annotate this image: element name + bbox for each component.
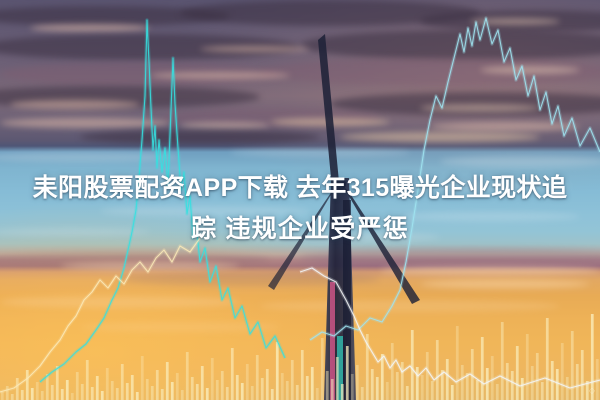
volume-bar	[91, 387, 94, 400]
volume-bar	[391, 343, 394, 400]
volume-bar	[71, 393, 74, 400]
volume-bar	[526, 334, 529, 400]
volume-bar	[541, 382, 544, 400]
title-line-2: 踪 违规企业受严惩	[0, 209, 600, 250]
volume-bar	[61, 389, 64, 400]
volume-bar	[571, 331, 574, 400]
volume-bar	[501, 322, 504, 400]
volume-bar	[26, 370, 29, 400]
volume-bar	[301, 350, 304, 400]
volume-bar	[196, 384, 199, 400]
volume-bar	[11, 394, 14, 400]
volume-bar	[251, 386, 254, 400]
volume-bar	[181, 390, 184, 400]
volume-bar	[281, 373, 284, 400]
volume-bar	[326, 371, 329, 400]
volume-bar	[141, 356, 144, 400]
volume-bar	[456, 326, 459, 400]
chart-line-glow	[0, 238, 200, 392]
volume-bar	[156, 370, 159, 400]
volume-bar	[266, 369, 269, 400]
volume-bar	[101, 391, 104, 400]
volume-bar	[221, 371, 224, 400]
volume-bar	[361, 387, 364, 400]
volume-bar	[536, 353, 539, 400]
banner-image: 耒阳股票配资APP下载 去年315曝光企业现状追 踪 违规企业受严惩 ◇	[0, 0, 600, 400]
volume-histogram	[1, 314, 599, 400]
volume-bar	[126, 383, 129, 400]
volume-bar	[236, 375, 239, 400]
volume-bar	[421, 375, 424, 400]
title-line-1: 耒阳股票配资APP下载 去年315曝光企业现状追	[0, 168, 600, 209]
volume-bar	[431, 381, 434, 400]
volume-bar	[131, 375, 134, 400]
volume-bar	[31, 388, 34, 400]
volume-bar	[581, 350, 584, 400]
volume-bar	[396, 372, 399, 400]
volume-bar	[256, 355, 259, 400]
volume-bar	[166, 362, 169, 400]
volume-bar	[321, 338, 324, 400]
volume-bar	[201, 366, 204, 400]
volume-bar	[311, 367, 314, 400]
volume-bar	[116, 388, 119, 400]
volume-bar	[481, 337, 484, 400]
volume-bar	[136, 392, 139, 400]
volume-bar	[336, 357, 339, 400]
volume-bar	[226, 387, 229, 400]
volume-bar	[206, 388, 209, 400]
volume-bar	[151, 386, 154, 400]
volume-bar	[331, 379, 334, 400]
volume-bar	[451, 385, 454, 400]
volume-bar	[286, 381, 289, 400]
volume-bar	[346, 346, 349, 400]
volume-bar	[296, 385, 299, 400]
volume-bar	[386, 382, 389, 400]
banner-title: 耒阳股票配资APP下载 去年315曝光企业现状追 踪 违规企业受严惩	[0, 168, 600, 250]
volume-bar	[146, 379, 149, 400]
volume-bar	[376, 377, 379, 400]
volume-bar	[171, 382, 174, 400]
volume-bar	[231, 348, 234, 400]
volume-bar	[86, 360, 89, 400]
volume-bar	[261, 378, 264, 400]
volume-bar	[96, 376, 99, 400]
volume-bar	[496, 384, 499, 400]
volume-bar	[51, 385, 54, 400]
volume-bar	[186, 352, 189, 400]
volume-bar	[561, 343, 564, 400]
volume-bar	[446, 359, 449, 400]
volume-bar	[176, 373, 179, 400]
volume-bar	[211, 358, 214, 400]
volume-bar	[16, 378, 19, 400]
volume-bar	[36, 382, 39, 400]
volume-bar	[161, 389, 164, 400]
volume-bar	[576, 364, 579, 400]
volume-bar	[546, 318, 549, 400]
volume-bar	[436, 340, 439, 400]
volume-bar	[66, 380, 69, 400]
volume-bar	[191, 377, 194, 400]
volume-bar	[81, 384, 84, 400]
volume-bar	[341, 384, 344, 400]
volume-bar	[121, 364, 124, 400]
volume-bar	[21, 390, 24, 400]
volume-bar	[316, 388, 319, 400]
volume-bar	[351, 374, 354, 400]
volume-bar	[76, 372, 79, 400]
volume-bar	[426, 352, 429, 400]
volume-bar	[276, 342, 279, 400]
volume-bar	[246, 364, 249, 400]
volume-bar	[291, 360, 294, 400]
watermark-mark: ◇	[589, 386, 595, 395]
volume-bar	[271, 389, 274, 400]
volume-bar	[516, 346, 519, 400]
volume-bar	[511, 371, 514, 400]
volume-bar	[41, 391, 44, 400]
volume-bar	[111, 381, 114, 400]
volume-bar	[521, 378, 524, 400]
volume-bar	[241, 383, 244, 400]
volume-bar	[216, 380, 219, 400]
volume-bar	[461, 365, 464, 400]
volume-bar	[106, 368, 109, 400]
volume-bar	[371, 369, 374, 400]
volume-bar	[406, 386, 409, 400]
volume-bar	[356, 365, 359, 400]
volume-bar	[306, 376, 309, 400]
volume-bar	[476, 380, 479, 400]
